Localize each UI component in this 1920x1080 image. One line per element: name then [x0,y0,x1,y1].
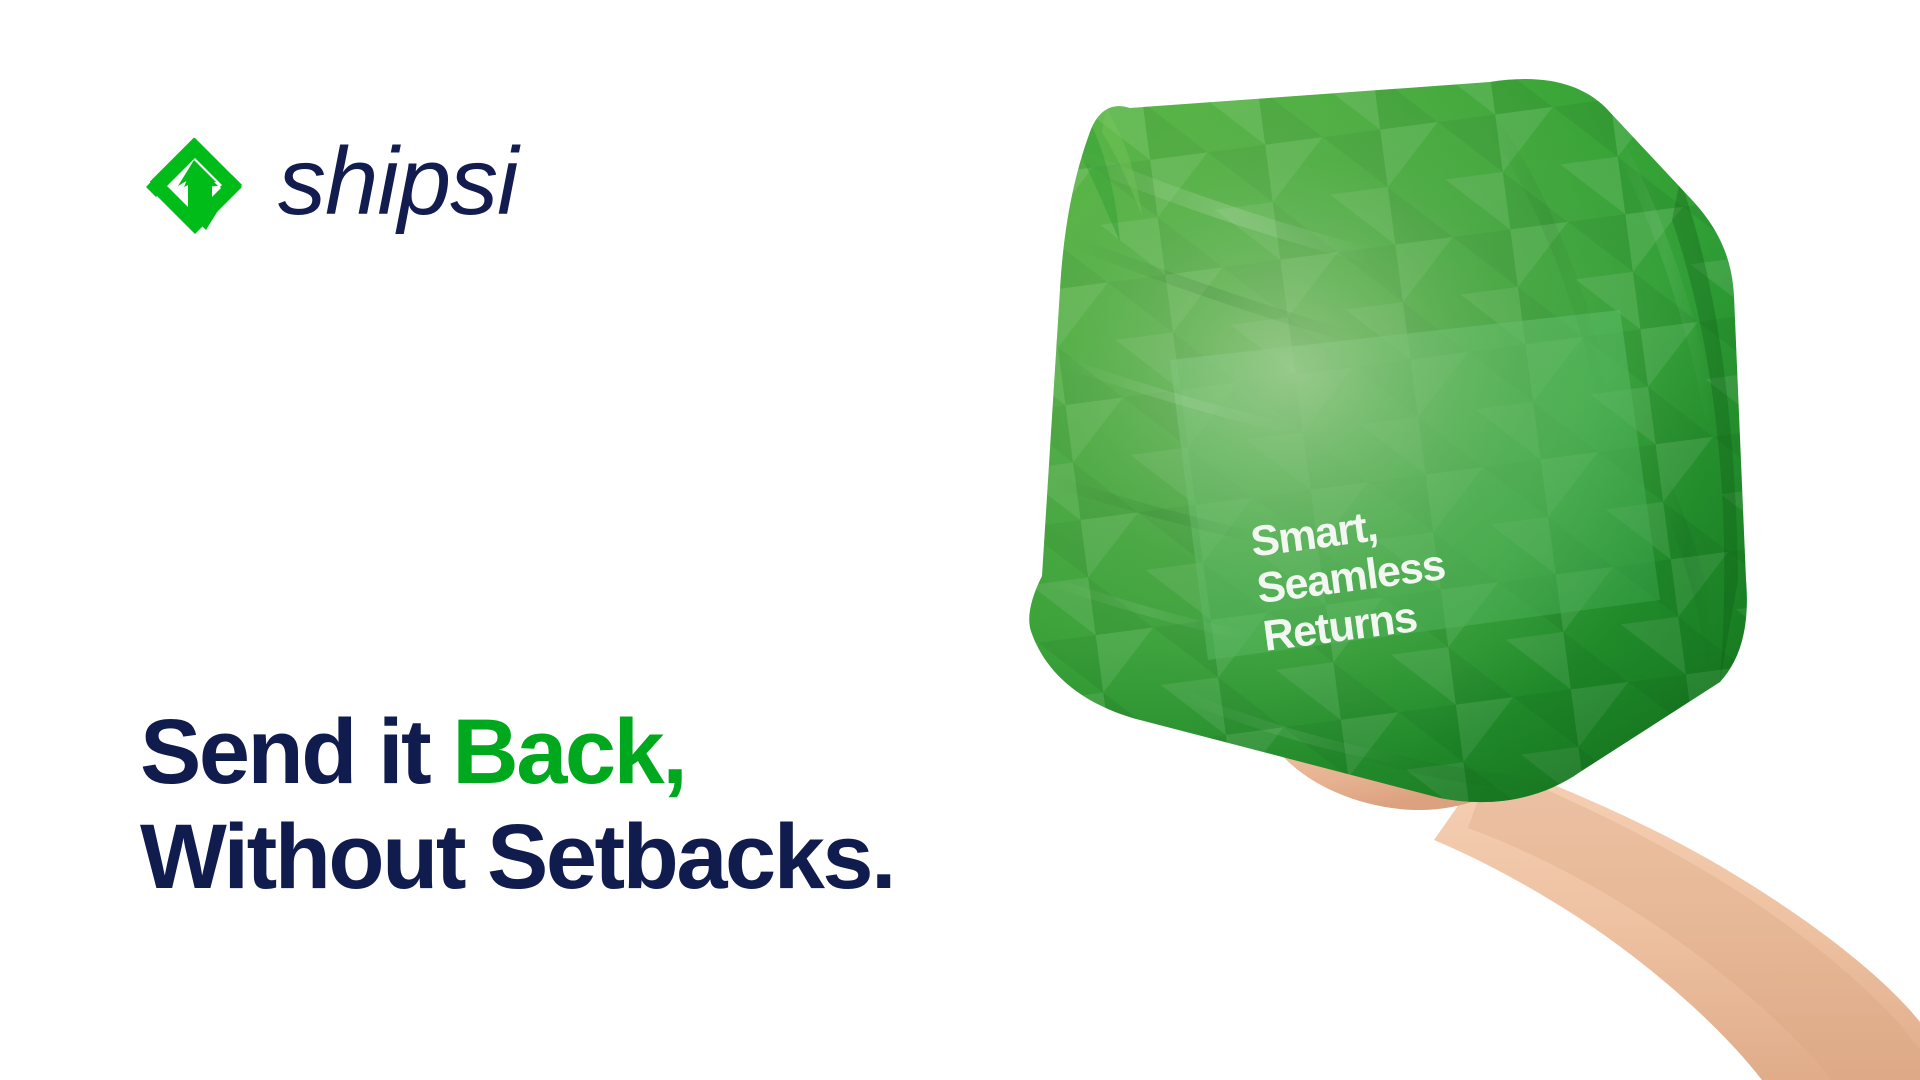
package-and-hand-illustration: Smart, Seamless Returns [1020,60,1920,1080]
headline-line-1-plain: Send it [140,701,452,803]
headline-line-1-accent: Back, [452,701,685,803]
shipsi-recycle-diamond-icon [138,130,250,242]
hero-canvas: shipsi Send it Back, Without Setbacks. [0,0,1920,1080]
brand-logo-lockup[interactable]: shipsi [138,130,517,242]
headline-line-2: Without Setbacks. [140,805,894,910]
brand-wordmark: shipsi [278,134,517,230]
headline-line-1: Send it Back, [140,700,894,805]
page-title: Send it Back, Without Setbacks. [140,700,894,910]
